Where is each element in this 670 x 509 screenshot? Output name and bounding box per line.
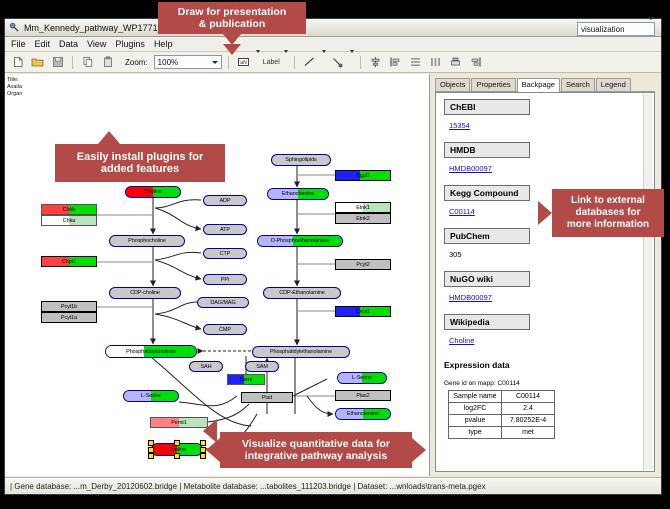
tab-objects[interactable]: Objects — [435, 78, 470, 91]
screenshot-root: Mm_Kennedy_pathway_WP1771_45176.gpml Fil… — [0, 0, 670, 509]
db-header-kegg-compound: Kegg Compound — [444, 185, 530, 201]
expr-key-log2fc: log2FC — [449, 403, 502, 415]
meta-title: Title: — [7, 77, 22, 84]
metabolite-node-atp[interactable]: ATP — [203, 224, 247, 235]
distribute-horizontal-icon[interactable] — [427, 54, 444, 71]
same-size-icon[interactable] — [447, 54, 464, 71]
node-label: DAG/MAG — [210, 300, 235, 306]
node-label: Ethanolamine — [347, 411, 379, 417]
backpage-content[interactable]: ChEBI 15354 HMDB HMDB00097 Kegg Compound… — [435, 92, 655, 472]
toolbar-separator — [228, 56, 229, 69]
metabolite-node-cmp[interactable]: CMP — [203, 324, 247, 335]
backpage-inner: ChEBI 15354 HMDB HMDB00097 Kegg Compound… — [444, 99, 644, 439]
metabolite-node-ctp[interactable]: CTP — [203, 248, 247, 259]
node-label: Phosphocholine — [128, 238, 166, 244]
node-label: Phosphatidylcholines — [126, 349, 176, 355]
metabolite-node-l-serine-left[interactable]: L-Serine — [123, 390, 179, 402]
metabolite-node-l-serine-right[interactable]: L-Serine — [337, 372, 387, 384]
visualization-combobox[interactable]: visualization — [577, 22, 655, 36]
pathway-meta: Title: Availa Organ — [7, 77, 22, 98]
node-label: Pisd — [262, 395, 272, 401]
node-label: Choline — [144, 189, 162, 195]
table-row: type met — [449, 427, 555, 439]
node-label: Sgpl1 — [356, 173, 370, 179]
callout-links-line2: databases for — [575, 207, 640, 219]
menu-bar: File Edit Data View Plugins Help — [5, 37, 661, 52]
side-panel: Objects Properties Backpage Search Legen… — [430, 74, 661, 476]
expr-key-pvalue: pvalue — [449, 415, 502, 427]
selection-handle[interactable] — [174, 453, 180, 459]
gene-node-pcyt2[interactable]: Pcyt2 — [335, 259, 391, 270]
zoom-value: 100% — [155, 58, 209, 67]
menu-item-help[interactable]: Help — [154, 39, 173, 49]
callout-plugins-arrow-icon — [98, 131, 120, 144]
metabolite-node-cdp-choline[interactable]: CDP-choline — [109, 287, 181, 299]
callout-visualize-pointer-icon — [203, 419, 217, 443]
node-label: Pemt1 — [171, 420, 186, 426]
expression-data-title: Expression data — [444, 360, 644, 370]
metabolite-node-o-phosphoethanolamine[interactable]: O-Phosphoethanolamine — [257, 235, 343, 247]
menu-item-plugins[interactable]: Plugins — [115, 39, 145, 49]
node-label: SAM — [256, 364, 268, 370]
gene-node-chka[interactable]: Chka — [41, 215, 97, 226]
anchor-tool-icon[interactable] — [329, 54, 346, 71]
side-panel-tabs: Objects Properties Backpage Search Legen… — [435, 78, 655, 92]
node-label: Chpt1 — [62, 259, 76, 265]
node-label: Pcyt2 — [356, 262, 369, 268]
callout-links-line3: more information — [567, 219, 649, 231]
db-link-wikipedia[interactable]: Choline — [449, 336, 474, 345]
open-folder-icon[interactable] — [29, 54, 46, 71]
align-center-icon[interactable] — [367, 54, 384, 71]
menu-item-view[interactable]: View — [87, 39, 106, 49]
menu-item-edit[interactable]: Edit — [35, 39, 51, 49]
svg-text:aN: aN — [240, 60, 247, 66]
callout-plugins: Easily install plugins for added feature… — [55, 144, 225, 182]
node-label: Choline — [168, 447, 186, 453]
metabolite-node-ethanolamine-right[interactable]: Ethanolamine — [335, 408, 391, 420]
gene-node-pla2s2[interactable]: Plas2 — [335, 390, 391, 401]
selection-handle[interactable] — [148, 440, 154, 446]
node-label: CMP — [219, 327, 231, 333]
distribute-vertical-icon[interactable] — [407, 54, 424, 71]
datanode-dropdown-icon[interactable] — [255, 53, 260, 71]
node-label: O-Phosphoethanolamine — [271, 238, 330, 244]
selection-handle[interactable] — [174, 440, 180, 446]
metabolite-node-cdp-ethanolamine[interactable]: CDP-Ethanolamine — [263, 287, 341, 299]
node-label: CDP-choline — [130, 290, 160, 296]
tab-properties[interactable]: Properties — [471, 78, 515, 91]
zoom-combobox[interactable]: 100% — [154, 55, 222, 69]
node-label: Etnk1 — [356, 205, 370, 211]
meta-availability: Availa — [7, 84, 22, 91]
expr-key-type: type — [449, 427, 502, 439]
line-dropdown-icon[interactable] — [321, 53, 326, 71]
menu-item-file[interactable]: File — [11, 39, 26, 49]
metabolite-node-phosphocholine[interactable]: Phosphocholine — [109, 235, 185, 247]
node-label: PPi — [221, 277, 229, 283]
db-link-hmdb[interactable]: HMDB00097 — [449, 164, 492, 173]
metabolite-node-sphingolipids[interactable]: Sphingolipids — [271, 154, 331, 166]
db-value-pubchem: 305 — [449, 250, 462, 259]
callout-plugins-line2: added features — [101, 163, 179, 175]
expr-val-pvalue: 7.80252E-4 — [502, 415, 555, 427]
new-file-icon[interactable] — [9, 54, 26, 71]
menu-item-data[interactable]: Data — [59, 39, 78, 49]
node-label: Cept1 — [356, 309, 370, 315]
db-header-chebi: ChEBI — [444, 99, 530, 115]
node-label: Ethanolamine — [282, 191, 314, 197]
node-label: Pcyt1a — [61, 315, 77, 321]
gene-node-cept1[interactable]: Cept1 — [335, 306, 391, 317]
db-link-kegg-compound[interactable]: C00114 — [449, 207, 475, 216]
callout-visualize-line1: Visualize quantitative data for — [242, 438, 390, 450]
gene-node-pemt1[interactable]: Pemt1 — [150, 417, 208, 428]
chevron-down-icon[interactable] — [209, 56, 221, 68]
backpage-scrollbar[interactable] — [643, 94, 653, 470]
label-tool-label[interactable]: Label — [263, 59, 280, 66]
metabolite-node-ethanolamine-top[interactable]: Ethanolamine — [267, 188, 329, 200]
db-link-nugo-wiki[interactable]: HMDB00097 — [449, 293, 492, 302]
db-header-pubchem: PubChem — [444, 228, 530, 244]
metabolite-node-phosphatidylethanolamine[interactable]: Phosphatidylethanolamine — [252, 346, 350, 358]
chevron-down-icon[interactable] — [648, 20, 654, 38]
db-header-nugo-wiki: NuGO wiki — [444, 271, 530, 287]
tab-backpage[interactable]: Backpage — [517, 78, 560, 92]
tab-search[interactable]: Search — [561, 78, 595, 91]
callout-draw: Draw for presentation & publication — [158, 2, 306, 34]
expr-val-log2fc: 2.4 — [502, 403, 555, 415]
node-label: Sphingolipids — [285, 157, 316, 163]
node-label: Pemt — [240, 377, 252, 383]
table-row: Sample name C00114 — [449, 391, 555, 403]
expr-val-sample-name: C00114 — [502, 391, 555, 403]
node-label: Chka — [63, 218, 75, 224]
node-label: Etnk2 — [356, 216, 370, 222]
selection-handle[interactable] — [148, 447, 154, 453]
visualization-value: visualization — [578, 25, 648, 34]
application-window: Mm_Kennedy_pathway_WP1771_45176.gpml Fil… — [4, 18, 662, 495]
node-label: L-Serine — [141, 393, 161, 399]
db-link-chebi[interactable]: 15354 — [449, 121, 470, 130]
paste-icon[interactable] — [99, 54, 116, 71]
node-label: Pcyt1b — [61, 304, 77, 310]
callout-visualize: Visualize quantitative data for integrat… — [220, 432, 412, 468]
callout-visualize-line2: integrative pathway analysis — [245, 450, 387, 462]
node-label: CTP — [220, 251, 231, 257]
metabolite-node-sam[interactable]: SAM — [245, 361, 279, 372]
gene-node-chkb[interactable]: Chkb — [41, 204, 97, 215]
zoom-label: Zoom: — [125, 58, 148, 67]
content-area: Title: Availa Organ — [5, 74, 661, 476]
status-bar: | Gene database: ...m_Derby_20120602.bri… — [5, 477, 661, 494]
align-right-icon[interactable] — [467, 54, 484, 71]
copy-icon[interactable] — [79, 54, 96, 71]
gene-node-etnk2[interactable]: Etnk2 — [335, 213, 391, 224]
save-icon[interactable] — [49, 54, 66, 71]
toolbar-separator — [72, 56, 73, 69]
toolbar-separator — [360, 56, 361, 69]
callout-visualize-arrow-right-icon — [412, 438, 426, 462]
node-label: SAH — [200, 364, 211, 370]
tab-legend[interactable]: Legend — [596, 78, 631, 91]
node-label: Plas2 — [356, 393, 369, 399]
node-label: Chkb — [63, 207, 75, 213]
metabolite-node-phosphatidylcholines[interactable]: Phosphatidylcholines — [105, 345, 197, 358]
gene-id-line: Gene id on mapp: C00114 — [444, 380, 644, 387]
callout-draw-arrow-tail-icon — [223, 44, 241, 55]
gene-node-sgpl1[interactable]: Sgpl1 — [335, 170, 391, 181]
pathway-canvas[interactable]: Title: Availa Organ — [5, 74, 430, 476]
anchor-dropdown-icon[interactable] — [349, 53, 354, 71]
callout-links-line1: Link to external — [571, 195, 645, 207]
metabolite-node-sah[interactable]: SAH — [189, 361, 223, 372]
expr-key-sample-name: Sample name — [449, 391, 502, 403]
node-label: L-Serine — [352, 375, 372, 381]
pathvisio-app-icon — [9, 22, 20, 33]
status-bar-text: | Gene database: ...m_Derby_20120602.bri… — [10, 482, 486, 491]
expr-val-type: met — [502, 427, 555, 439]
callout-links-arrow-icon — [538, 201, 552, 225]
node-label: CDP-Ethanolamine — [279, 290, 324, 296]
tool-bar: Zoom: 100% aN Label — [5, 52, 661, 73]
gene-node-etnk1[interactable]: Etnk1 — [335, 202, 391, 213]
callout-plugins-line1: Easily install plugins for — [77, 151, 204, 163]
gene-node-pisd[interactable]: Pisd — [241, 392, 293, 403]
callout-external-links: Link to external databases for more info… — [552, 189, 664, 237]
callout-draw-line1: Draw for presentation — [178, 6, 287, 18]
table-row: pvalue 7.80252E-4 — [449, 415, 555, 427]
callout-draw-line2: & publication — [199, 18, 266, 30]
node-label: ADP — [219, 198, 230, 204]
metabolite-node-adp[interactable]: ADP — [203, 195, 247, 206]
toolbar-separator — [294, 56, 295, 69]
metabolite-node-choline-top[interactable]: Choline — [125, 186, 181, 198]
gene-node-pcyt1a[interactable]: Pcyt1a — [41, 312, 97, 323]
align-left-icon[interactable] — [387, 54, 404, 71]
meta-organism: Organ — [7, 91, 22, 98]
node-label: ATP — [220, 227, 230, 233]
datanode-icon[interactable]: aN — [235, 54, 252, 71]
gene-node-pcyt1b[interactable]: Pcyt1b — [41, 301, 97, 312]
db-header-wikipedia: Wikipedia — [444, 314, 530, 330]
node-label: Phosphatidylethanolamine — [270, 349, 332, 355]
gene-node-pemt[interactable]: Pemt — [227, 374, 265, 385]
title-bar: Mm_Kennedy_pathway_WP1771_45176.gpml — [5, 19, 661, 37]
label-dropdown-icon[interactable] — [283, 53, 288, 71]
line-tool-icon[interactable] — [301, 54, 318, 71]
selection-handle[interactable] — [148, 453, 154, 459]
metabolite-node-dagmag[interactable]: DAG/MAG — [197, 297, 249, 308]
gene-node-chpt1[interactable]: Chpt1 — [41, 256, 97, 267]
db-header-hmdb: HMDB — [444, 142, 530, 158]
table-row: log2FC 2.4 — [449, 403, 555, 415]
expression-table: Sample name C00114 log2FC 2.4 pvalue 7.8… — [448, 390, 555, 439]
metabolite-node-ppi[interactable]: PPi — [203, 274, 247, 285]
